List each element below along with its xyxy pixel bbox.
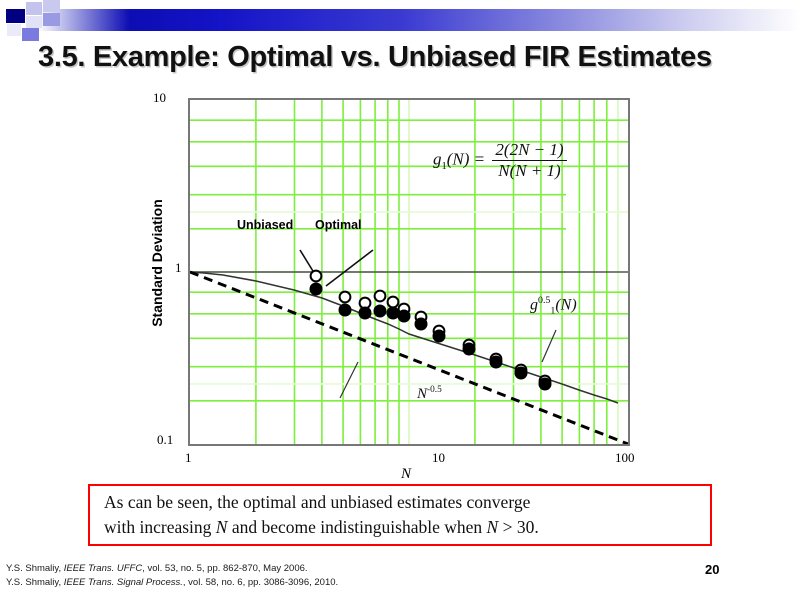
deco-square-2 bbox=[6, 9, 25, 23]
leader-line-g1 bbox=[542, 330, 556, 362]
conclusion-line-1: As can be seen, the optimal and unbiased… bbox=[104, 490, 696, 515]
reference-item-2: Y.S. Shmaliy, IEEE Trans. Signal Process… bbox=[6, 576, 338, 590]
y-axis-tick-max: 10 bbox=[153, 90, 166, 106]
formula-lhs: g bbox=[433, 149, 442, 168]
header-gradient-bar bbox=[38, 9, 800, 31]
curve-label-n-exponent: -0.5 bbox=[427, 385, 442, 395]
curve-label-g1-base: g bbox=[530, 296, 538, 313]
formula-denominator: N(N + 1) bbox=[492, 161, 566, 181]
formula-numerator: 2(2N − 1) bbox=[492, 140, 566, 161]
reference-2-details: , vol. 58, no. 6, pp. 3086-3096, 2010. bbox=[183, 577, 338, 588]
curve-label-n-power: N-0.5 bbox=[417, 385, 442, 403]
reference-item-1: Y.S. Shmaliy, IEEE Trans. UFFC, vol. 53,… bbox=[6, 562, 338, 576]
deco-square-3 bbox=[26, 2, 42, 15]
curve-label-g1: g0.51(N) bbox=[530, 295, 577, 317]
curve-label-n-base: N bbox=[417, 386, 427, 402]
callout-label-unbiased: Unbiased bbox=[237, 218, 293, 232]
formula-lhs-arg: (N) = bbox=[447, 149, 485, 168]
reference-list: Y.S. Shmaliy, IEEE Trans. UFFC, vol. 53,… bbox=[6, 562, 338, 590]
y-axis-title: Standard Deviation bbox=[149, 183, 165, 343]
y-axis-tick-mid: 1 bbox=[175, 260, 182, 276]
leader-line-nhalf bbox=[340, 362, 358, 398]
deco-square-6 bbox=[43, 13, 60, 26]
conclusion-line-2-part-c: > 30. bbox=[498, 517, 539, 537]
page-title: 3.5. Example: Optimal vs. Unbiased FIR E… bbox=[38, 41, 778, 81]
curve-label-g1-argument: (N) bbox=[555, 296, 576, 313]
conclusion-var-n-1: N bbox=[216, 517, 228, 537]
x-axis-tick-min: 1 bbox=[185, 450, 192, 466]
formula-fraction: 2(2N − 1) N(N + 1) bbox=[492, 140, 566, 181]
y-axis-tick-min: 0.1 bbox=[157, 432, 173, 448]
conclusion-line-2-part-b: and become indistinguishable when bbox=[227, 517, 486, 537]
deco-square-1 bbox=[7, 24, 21, 36]
deco-square-5 bbox=[43, 0, 60, 12]
deco-square-7 bbox=[22, 28, 39, 41]
conclusion-line-2-part-a: with increasing bbox=[104, 517, 216, 537]
series-line-g1 bbox=[190, 272, 618, 403]
series-markers-unbiased bbox=[311, 271, 551, 387]
slide-number: 20 bbox=[705, 562, 719, 577]
x-axis-tick-mid: 10 bbox=[432, 450, 445, 466]
header-decoration bbox=[0, 0, 800, 40]
deco-square-4 bbox=[26, 16, 42, 28]
x-axis-title: N bbox=[401, 466, 411, 483]
conclusion-var-n-2: N bbox=[487, 517, 499, 537]
reference-1-authors: Y.S. Shmaliy, bbox=[6, 563, 64, 574]
formula-g1-definition: g1(N) = 2(2N − 1) N(N + 1) bbox=[433, 140, 570, 181]
curve-label-g1-exponent: 0.5 bbox=[538, 295, 550, 306]
chart-figure: 10 1 0.1 1 10 100 N Standard Deviation U… bbox=[155, 90, 665, 470]
x-axis-tick-max: 100 bbox=[615, 450, 635, 466]
reference-2-authors: Y.S. Shmaliy, bbox=[6, 577, 64, 588]
reference-1-details: , vol. 53, no. 5, pp. 862-870, May 2006. bbox=[142, 563, 307, 574]
reference-1-journal: IEEE Trans. UFFC bbox=[64, 563, 142, 574]
reference-2-journal: IEEE Trans. Signal Process. bbox=[64, 577, 183, 588]
conclusion-text-box: As can be seen, the optimal and unbiased… bbox=[88, 484, 712, 546]
conclusion-line-2: with increasing N and become indistingui… bbox=[104, 515, 696, 540]
callout-label-optimal: Optimal bbox=[315, 218, 362, 232]
leader-line-optimal bbox=[326, 250, 373, 286]
